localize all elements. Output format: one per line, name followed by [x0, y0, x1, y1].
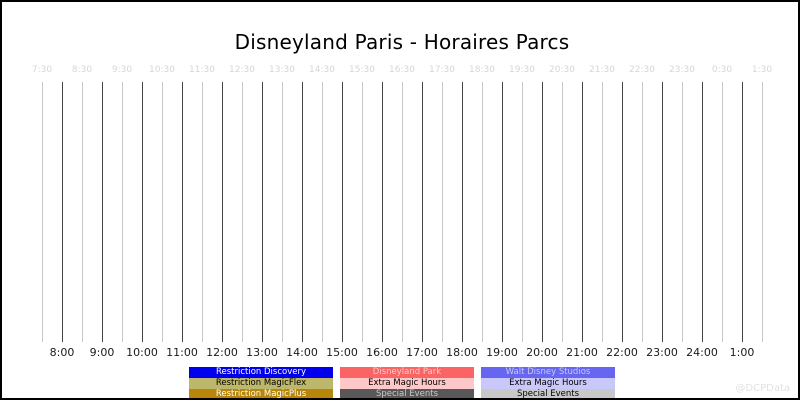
gridline-major: [102, 82, 103, 342]
gridline-major: [622, 82, 623, 342]
gridline-major: [422, 82, 423, 342]
gridline-minor: [522, 82, 523, 342]
legend-column-walt-disney-studios: Walt Disney StudiosExtra Magic HoursSpec…: [481, 367, 615, 400]
gridline-major: [662, 82, 663, 342]
gridline-major: [742, 82, 743, 342]
axis-tick-label-top: 9:30: [112, 65, 132, 75]
legend-column-disneyland-park: Disneyland ParkExtra Magic HoursSpecial …: [340, 367, 474, 400]
gridline-major: [702, 82, 703, 342]
axis-tick-label-top: 12:30: [229, 65, 255, 75]
gridline-minor: [42, 82, 43, 342]
page-title: Disneyland Paris - Horaires Parcs: [2, 30, 800, 54]
gridline-major: [462, 82, 463, 342]
plot-area: 7:308:309:3010:3011:3012:3013:3014:3015:…: [2, 62, 800, 352]
gridline-major: [262, 82, 263, 342]
gridline-minor: [82, 82, 83, 342]
gridline-major: [342, 82, 343, 342]
axis-tick-label-bottom: 13:00: [246, 346, 278, 359]
axis-tick-label-bottom: 1:00: [730, 346, 755, 359]
gridline-minor: [282, 82, 283, 342]
axis-tick-label-bottom: 24:00: [686, 346, 718, 359]
gridline-minor: [242, 82, 243, 342]
legend-column-restrictions: Restriction DiscoveryRestriction MagicFl…: [189, 367, 333, 400]
axis-tick-label-top: 0:30: [712, 65, 732, 75]
chart-legend: Restriction DiscoveryRestriction MagicFl…: [2, 367, 800, 400]
axis-tick-label-top: 18:30: [469, 65, 495, 75]
gridline-minor: [162, 82, 163, 342]
axis-tick-label-top: 22:30: [629, 65, 655, 75]
axis-tick-label-top: 10:30: [149, 65, 175, 75]
axis-tick-label-bottom: 11:00: [166, 346, 198, 359]
axis-tick-label-top: 20:30: [549, 65, 575, 75]
gridline-minor: [602, 82, 603, 342]
axis-tick-label-top: 8:30: [72, 65, 92, 75]
gridline-major: [502, 82, 503, 342]
legend-item[interactable]: Disneyland Park: [340, 367, 474, 378]
gridline-minor: [122, 82, 123, 342]
gridline-major: [582, 82, 583, 342]
gridline-minor: [362, 82, 363, 342]
axis-tick-label-top: 11:30: [189, 65, 215, 75]
axis-tick-label-top: 17:30: [429, 65, 455, 75]
axis-tick-label-bottom: 18:00: [446, 346, 478, 359]
gridline-minor: [402, 82, 403, 342]
gridline-major: [382, 82, 383, 342]
axis-tick-label-top: 21:30: [589, 65, 615, 75]
gridline-major: [142, 82, 143, 342]
axis-tick-label-bottom: 23:00: [646, 346, 678, 359]
gridline-major: [182, 82, 183, 342]
legend-item[interactable]: Extra Magic Hours: [340, 378, 474, 389]
gridline-minor: [202, 82, 203, 342]
gridline-minor: [642, 82, 643, 342]
legend-item[interactable]: Special Events: [340, 389, 474, 400]
gridline-minor: [722, 82, 723, 342]
gridline-major: [542, 82, 543, 342]
gridline-major: [62, 82, 63, 342]
axis-tick-label-bottom: 9:00: [90, 346, 115, 359]
gridline-major: [222, 82, 223, 342]
axis-tick-label-top: 16:30: [389, 65, 415, 75]
legend-item[interactable]: Special Events: [481, 389, 615, 400]
axis-tick-label-bottom: 15:00: [326, 346, 358, 359]
axis-tick-label-top: 1:30: [752, 65, 772, 75]
chart-canvas: Disneyland Paris - Horaires Parcs 7:308:…: [0, 0, 800, 400]
axis-tick-label-top: 15:30: [349, 65, 375, 75]
axis-tick-label-bottom: 20:00: [526, 346, 558, 359]
axis-tick-label-top: 19:30: [509, 65, 535, 75]
gridline-minor: [562, 82, 563, 342]
gridline-minor: [322, 82, 323, 342]
axis-tick-label-top: 13:30: [269, 65, 295, 75]
legend-item[interactable]: Extra Magic Hours: [481, 378, 615, 389]
axis-tick-label-bottom: 21:00: [566, 346, 598, 359]
watermark: @DCPData: [735, 383, 790, 394]
gridline-minor: [762, 82, 763, 342]
gridline-major: [302, 82, 303, 342]
axis-tick-label-bottom: 16:00: [366, 346, 398, 359]
legend-item[interactable]: Restriction Discovery: [189, 367, 333, 378]
axis-tick-label-bottom: 14:00: [286, 346, 318, 359]
legend-item[interactable]: Walt Disney Studios: [481, 367, 615, 378]
axis-tick-label-bottom: 19:00: [486, 346, 518, 359]
legend-item[interactable]: Restriction MagicFlex: [189, 378, 333, 389]
axis-tick-label-bottom: 10:00: [126, 346, 158, 359]
axis-tick-label-top: 14:30: [309, 65, 335, 75]
axis-tick-label-bottom: 8:00: [50, 346, 75, 359]
legend-item[interactable]: Restriction MagicPlus: [189, 389, 333, 400]
gridline-minor: [682, 82, 683, 342]
axis-tick-label-bottom: 12:00: [206, 346, 238, 359]
gridline-minor: [482, 82, 483, 342]
axis-tick-label-bottom: 17:00: [406, 346, 438, 359]
axis-tick-label-bottom: 22:00: [606, 346, 638, 359]
axis-tick-label-top: 7:30: [32, 65, 52, 75]
axis-tick-label-top: 23:30: [669, 65, 695, 75]
gridline-minor: [442, 82, 443, 342]
